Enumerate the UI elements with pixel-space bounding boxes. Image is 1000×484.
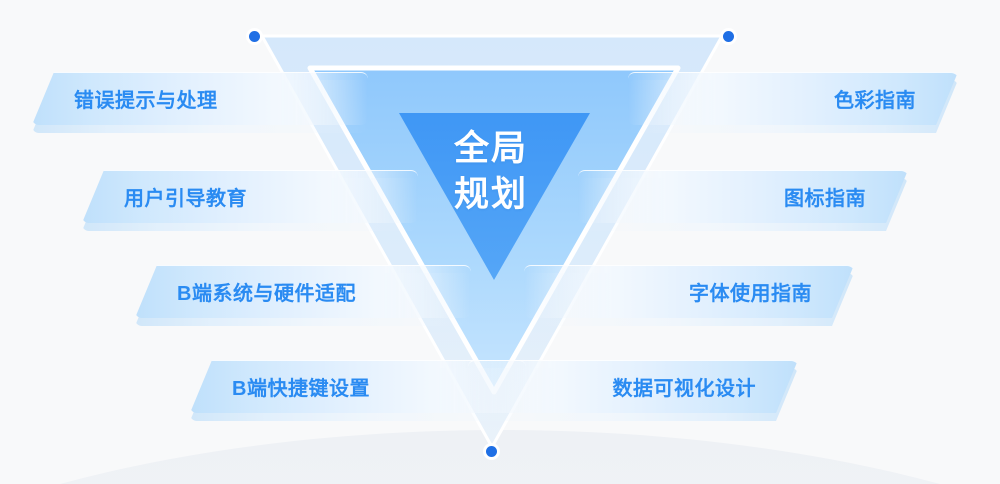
node-left-2[interactable]: 用户引导教育 — [82, 170, 418, 223]
center-title: 全局 规划 — [401, 126, 581, 218]
node-right-1-label: 色彩指南 — [834, 84, 958, 113]
node-left-1[interactable]: 错误提示与处理 — [32, 72, 368, 125]
node-left-4-label: B端快捷键设置 — [190, 372, 370, 401]
node-left-1-label: 错误提示与处理 — [32, 84, 218, 113]
node-left-3[interactable]: B端系统与硬件适配 — [135, 265, 471, 318]
node-right-4[interactable]: 数据可视化设计 — [468, 360, 798, 413]
center-title-line-2: 规划 — [401, 172, 581, 218]
corner-dot-top-left — [249, 31, 260, 42]
ground-dome-decoration — [0, 430, 1000, 484]
node-right-4-label: 数据可视化设计 — [613, 372, 799, 401]
node-left-3-label: B端系统与硬件适配 — [135, 277, 356, 306]
node-left-2-label: 用户引导教育 — [82, 182, 247, 211]
apex-dot-bottom — [486, 446, 497, 457]
inner-triangle — [399, 113, 590, 280]
corner-dot-top-right — [723, 31, 734, 42]
node-right-1[interactable]: 色彩指南 — [628, 72, 958, 125]
node-right-2[interactable]: 图标指南 — [578, 170, 908, 223]
node-right-2-label: 图标指南 — [784, 182, 908, 211]
node-right-3[interactable]: 字体使用指南 — [524, 265, 854, 318]
center-title-line-1: 全局 — [401, 126, 581, 172]
node-right-3-label: 字体使用指南 — [689, 277, 854, 306]
infographic-canvas: 全局 规划 错误提示与处理 用户引导教育 B端系统与硬件适配 B端快捷键设置 色… — [0, 0, 1000, 484]
